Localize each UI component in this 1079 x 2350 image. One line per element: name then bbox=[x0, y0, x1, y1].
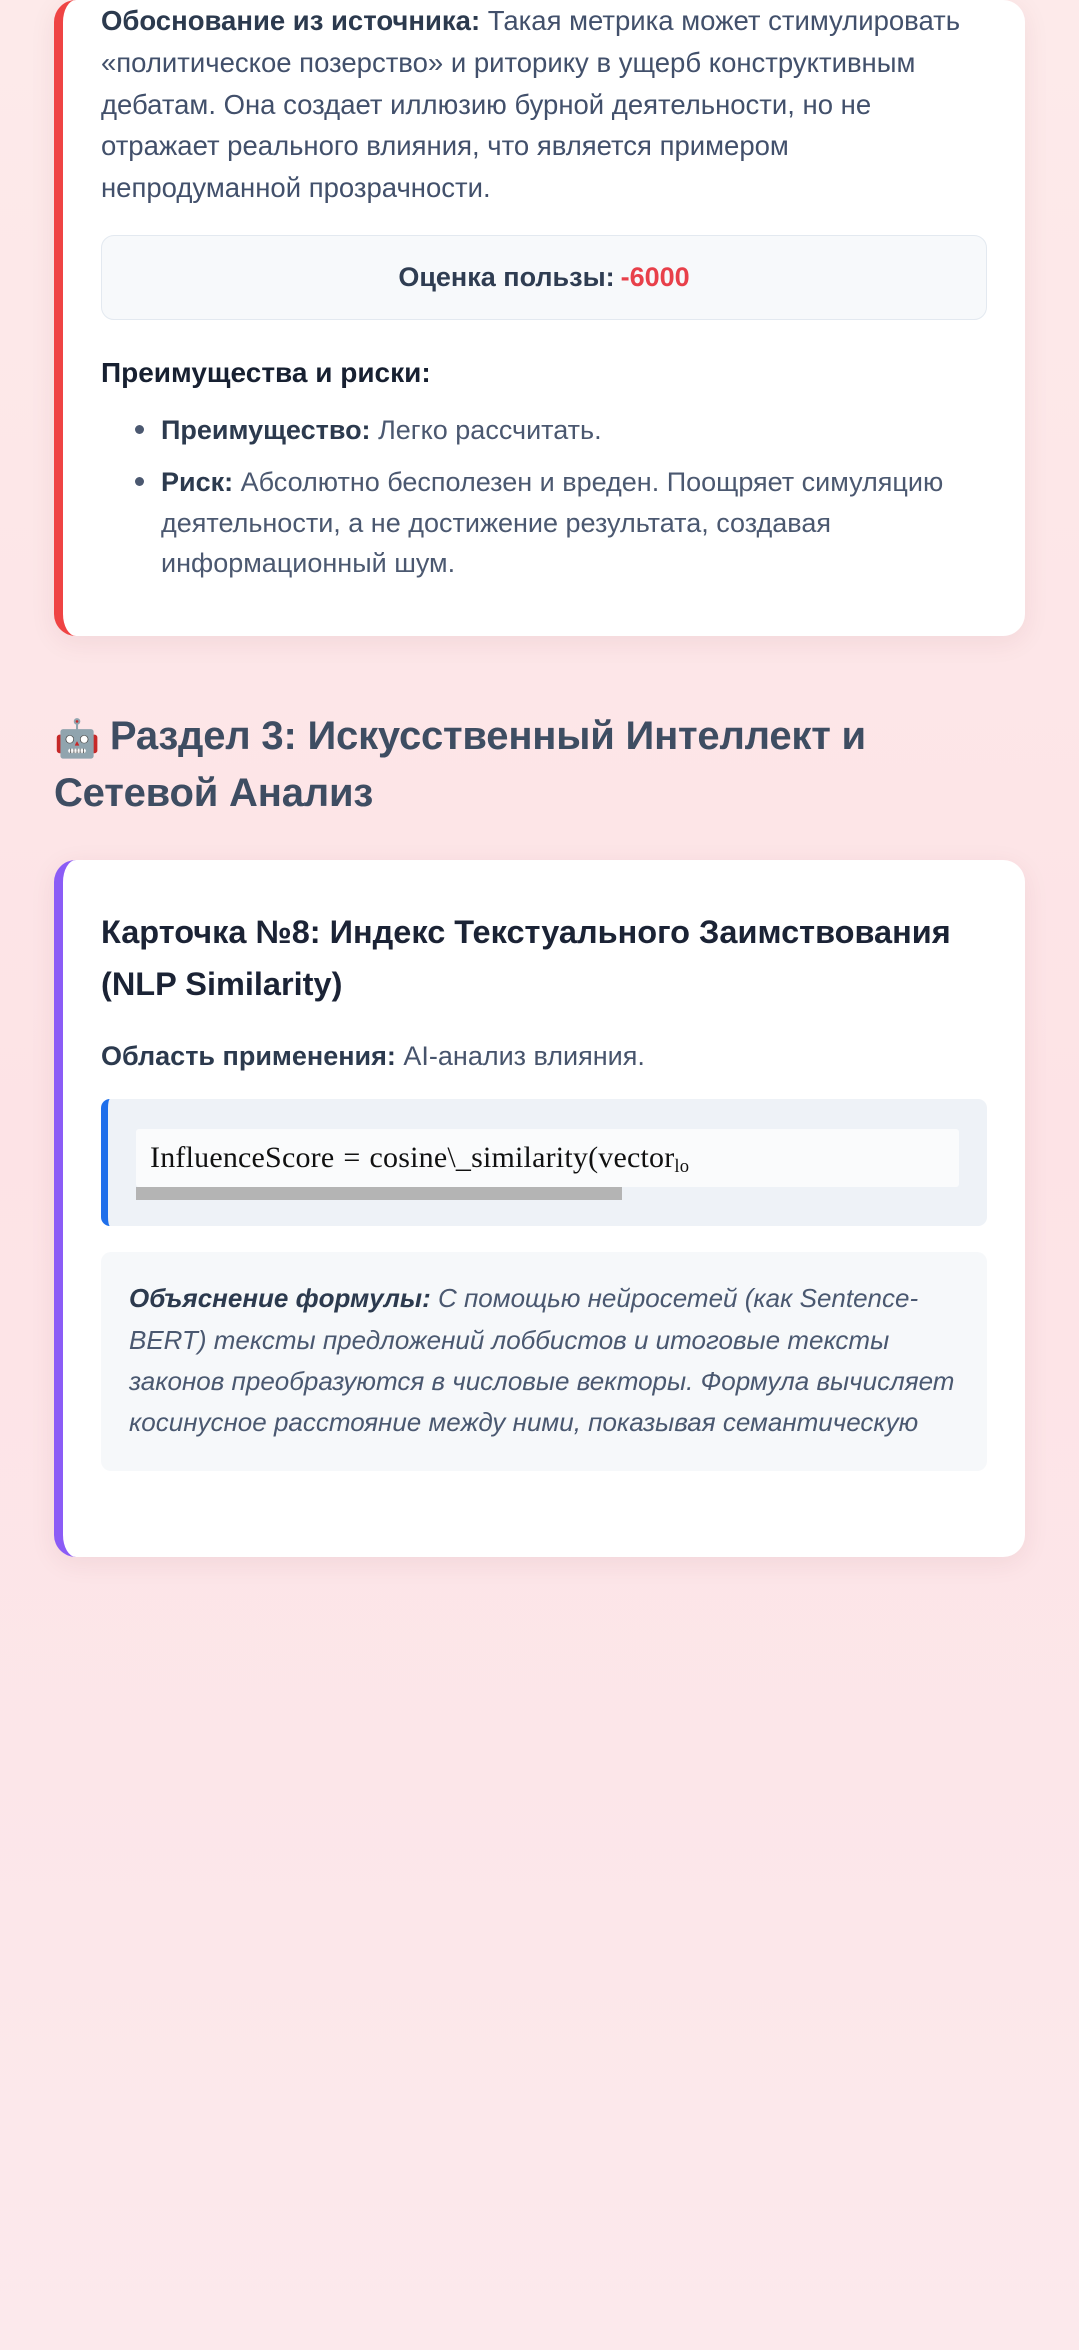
card-metric-8: Карточка №8: Индекс Текстуального Заимст… bbox=[54, 860, 1025, 1557]
scope-label: Область применения: bbox=[101, 1041, 396, 1071]
list-item: Преимущество: Легко рассчитать. bbox=[135, 410, 987, 451]
utility-score-label: Оценка пользы: bbox=[398, 262, 614, 292]
formula-scrollbar[interactable] bbox=[136, 1187, 959, 1200]
utility-score-box: Оценка пользы:-6000 bbox=[101, 235, 987, 320]
formula-explanation-box: Объяснение формулы: С помощью нейросетей… bbox=[101, 1252, 987, 1470]
scope-text: AI-анализ влияния. bbox=[396, 1041, 645, 1071]
formula-rhs: cosine\_similarity(vector bbox=[370, 1141, 675, 1174]
pros-risks-list: Преимущество: Легко рассчитать. Риск: Аб… bbox=[101, 410, 987, 584]
formula-explanation: Объяснение формулы: С помощью нейросетей… bbox=[129, 1278, 959, 1442]
card-8-title: Карточка №8: Индекс Текстуального Заимст… bbox=[101, 906, 987, 1010]
list-item-text: Абсолютно бесполезен и вреден. Поощряет … bbox=[161, 467, 943, 578]
formula-horizontal-scroll[interactable]: InfluenceScore=cosine\_similarity(vector… bbox=[136, 1129, 959, 1188]
formula-subscript: lo bbox=[674, 1155, 689, 1176]
robot-emoji: 🤖 bbox=[54, 718, 100, 759]
section-3-heading: 🤖Раздел 3: Искусственный Интеллект и Сет… bbox=[54, 708, 1025, 822]
formula-box: InfluenceScore=cosine\_similarity(vector… bbox=[101, 1099, 987, 1227]
formula-lhs: InfluenceScore bbox=[150, 1141, 334, 1174]
spacer bbox=[101, 1471, 987, 1517]
list-item: Риск: Абсолютно бесполезен и вреден. Поо… bbox=[135, 462, 987, 584]
card-8-body: Карточка №8: Индекс Текстуального Заимст… bbox=[63, 906, 1025, 1557]
rationale-label: Обоснование из источника: bbox=[101, 5, 480, 36]
utility-score-value: -6000 bbox=[621, 262, 690, 292]
scope-line: Область применения: AI-анализ влияния. bbox=[101, 1036, 987, 1077]
list-item-label: Преимущество: bbox=[161, 415, 371, 445]
card-7-body: Обоснование из источника: Такая метрика … bbox=[63, 0, 1025, 636]
formula-operator: = bbox=[343, 1141, 360, 1174]
document-page: Обоснование из источника: Такая метрика … bbox=[0, 0, 1079, 2350]
list-item-text: Легко рассчитать. bbox=[371, 415, 602, 445]
formula-expression: InfluenceScore=cosine\_similarity(vector… bbox=[146, 1133, 949, 1188]
rationale-paragraph: Обоснование из источника: Такая метрика … bbox=[101, 0, 987, 209]
formula-scrollbar-thumb[interactable] bbox=[136, 1187, 622, 1200]
section-3-title: Раздел 3: Искусственный Интеллект и Сете… bbox=[54, 714, 866, 816]
card-metric-7: Обоснование из источника: Такая метрика … bbox=[54, 0, 1025, 636]
list-item-label: Риск: bbox=[161, 467, 233, 497]
formula-explanation-label: Объяснение формулы: bbox=[129, 1283, 431, 1313]
pros-risks-heading: Преимущества и риски: bbox=[101, 354, 987, 392]
